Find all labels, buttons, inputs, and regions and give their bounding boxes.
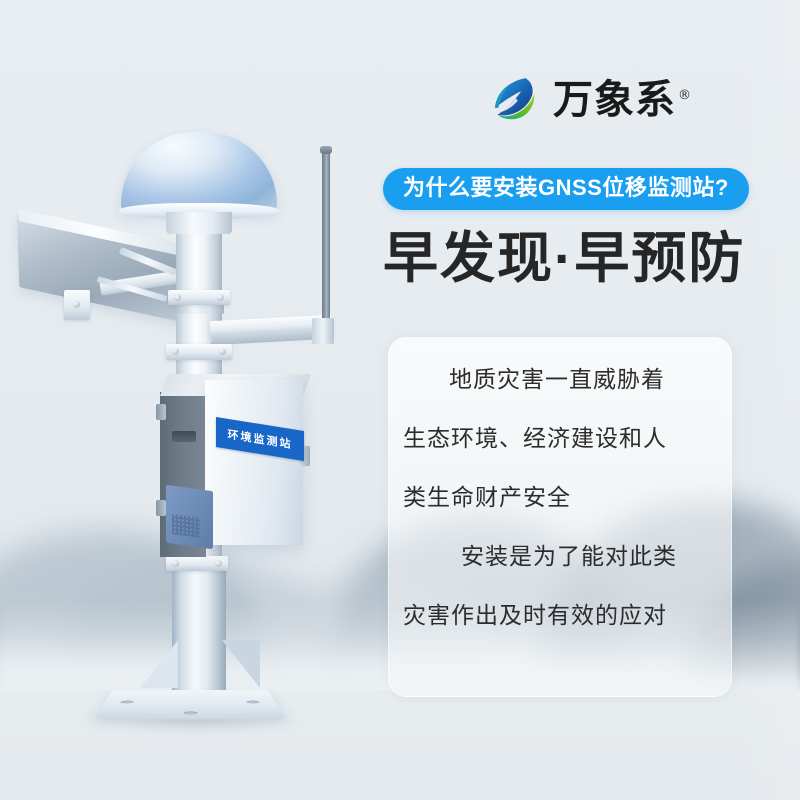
question-banner: 为什么要安装GNSS位移监测站? bbox=[383, 168, 749, 210]
description-panel-body: 地质灾害一直威胁着 生态环境、经济建设和人 类生命财产安全 安装是为了能对此类 … bbox=[389, 338, 731, 696]
enclosure-hinge-upper bbox=[156, 404, 166, 420]
enclosure-nameplate-text: 环境监测站 bbox=[228, 426, 293, 452]
gnss-monitoring-station-illustration: 环境监测站 bbox=[0, 0, 400, 800]
registered-trademark-icon: ® bbox=[678, 88, 692, 103]
base-gusset-left bbox=[140, 640, 178, 688]
brand-logo: 万象系® bbox=[487, 72, 692, 128]
description-line-5: 灾害作出及时有效的应对 bbox=[403, 604, 717, 627]
pole-clamp-lower bbox=[166, 556, 228, 571]
pole-clamp-mid bbox=[166, 344, 232, 360]
description-line-3: 类生命财产安全 bbox=[403, 486, 717, 509]
whip-antenna bbox=[322, 150, 330, 328]
right-light-band bbox=[735, 0, 800, 800]
enclosure-hinge-lower bbox=[156, 500, 166, 516]
whip-antenna-cap bbox=[320, 146, 332, 154]
brand-name: 万象系® bbox=[553, 80, 692, 120]
poster-canvas: 环境监测站 bbox=[0, 0, 800, 800]
base-plate bbox=[94, 690, 286, 719]
whip-antenna-mount bbox=[312, 318, 334, 344]
gnss-dome-antenna bbox=[121, 132, 277, 212]
description-line-1: 地质灾害一直威胁着 bbox=[403, 368, 717, 391]
description-line-4: 安装是为了能对此类 bbox=[403, 545, 717, 568]
headline: 早发现·早预防 bbox=[383, 228, 745, 289]
pole-lower-section bbox=[172, 560, 226, 695]
solar-bracket-clamp bbox=[64, 290, 90, 320]
pole-clamp-upper bbox=[168, 290, 230, 305]
brand-name-text: 万象系 bbox=[553, 77, 676, 123]
enclosure-front-panel bbox=[205, 380, 303, 545]
enclosure-speaker-grill bbox=[172, 514, 200, 538]
description-line-2: 生态环境、经济建设和人 bbox=[403, 427, 717, 450]
globe-swoosh-logo-icon bbox=[487, 72, 543, 128]
description-panel: 地质灾害一直威胁着 生态环境、经济建设和人 类生命财产安全 安装是为了能对此类 … bbox=[388, 337, 732, 697]
base-gusset-right bbox=[222, 640, 260, 688]
dome-antenna-neck bbox=[166, 212, 232, 234]
enclosure-vent-slot bbox=[172, 431, 196, 442]
